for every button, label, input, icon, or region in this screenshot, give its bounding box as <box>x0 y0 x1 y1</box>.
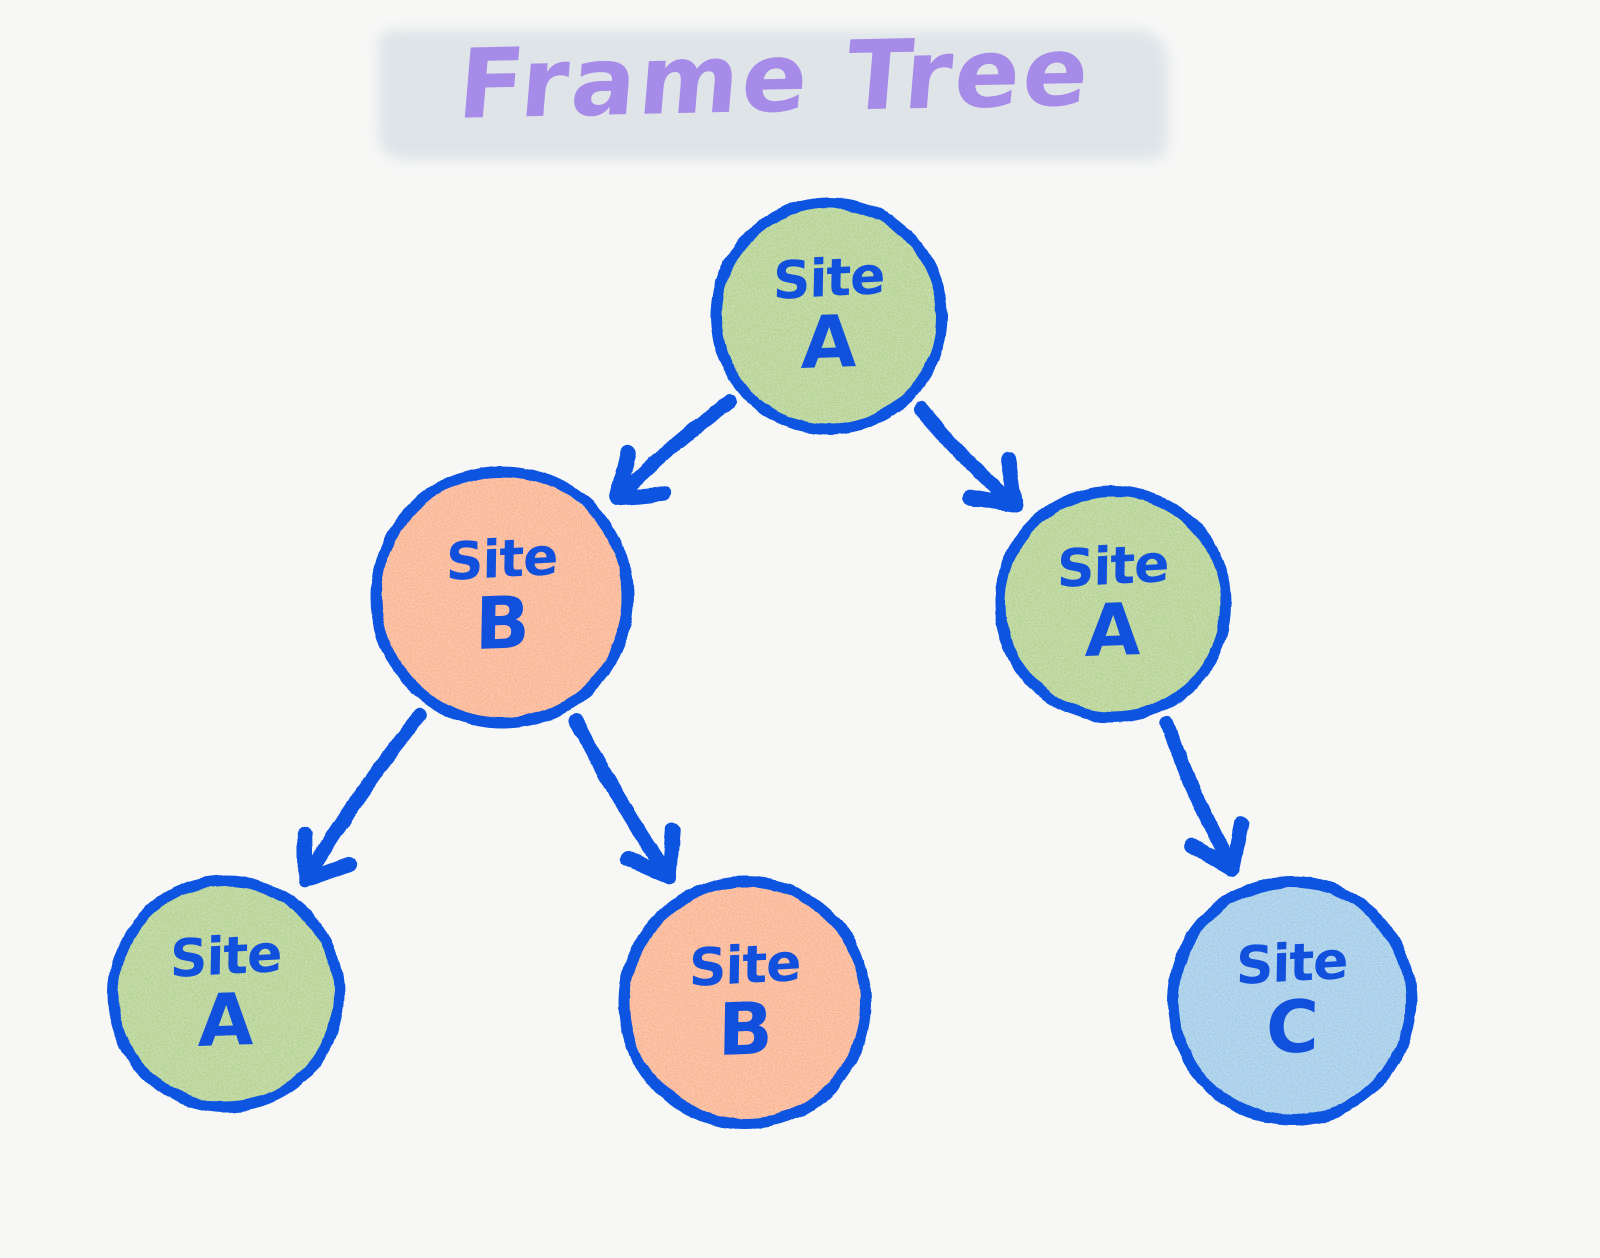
frame-tree-svg <box>0 0 1600 1258</box>
tree-node-c1[interactable] <box>1173 882 1411 1120</box>
tree-node-a3[interactable] <box>113 881 339 1107</box>
diagram-canvas: Frame Tree SiteASiteBSiteASiteASiteBSite… <box>0 0 1600 1258</box>
tree-edge-arrow <box>576 721 673 877</box>
tree-edge-arrow <box>1167 723 1242 868</box>
tree-node-b1[interactable] <box>376 471 628 723</box>
tree-node-a2[interactable] <box>1000 491 1226 717</box>
tree-edge-arrow <box>305 715 420 880</box>
tree-node-root[interactable] <box>716 203 942 429</box>
tree-node-b2[interactable] <box>624 882 866 1124</box>
tree-edge-arrow <box>921 409 1015 505</box>
node-layer <box>113 203 1411 1124</box>
tree-edge-arrow <box>617 401 729 498</box>
